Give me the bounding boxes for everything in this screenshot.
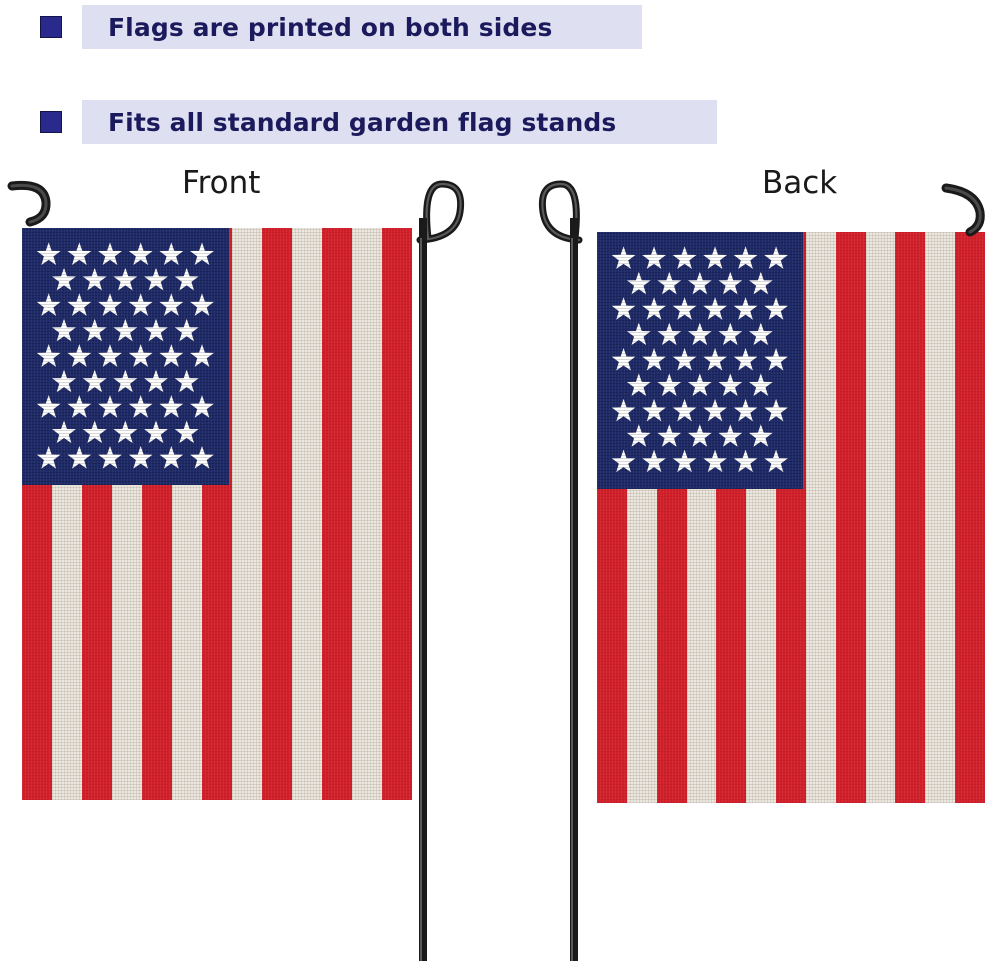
flag-star (642, 450, 666, 473)
flag-star (749, 272, 773, 295)
flag-star (159, 242, 183, 265)
flag-star (175, 370, 199, 393)
flag-star (612, 450, 636, 473)
flag-star (718, 424, 742, 447)
flag-star (718, 323, 742, 346)
flag-star (612, 348, 636, 371)
feature-label: Flags are printed on both sides (108, 15, 552, 40)
flag-side-label-front: Front (182, 168, 260, 199)
flag-stripe (806, 232, 836, 803)
feature-band: Fits all standard garden flag stands (82, 100, 717, 144)
flag-star (190, 293, 214, 316)
flag-star (612, 246, 636, 269)
flag-canton-stars (22, 228, 229, 485)
flag-star (67, 242, 91, 265)
flag-stripe (322, 228, 353, 800)
flag-star (612, 297, 636, 320)
flag-star (144, 319, 168, 342)
flag-star (673, 399, 697, 422)
flag-pole-hook-right (930, 178, 1000, 248)
flag-star (764, 297, 788, 320)
flag-star (52, 268, 76, 291)
flag-star (83, 421, 107, 444)
flag-star (67, 293, 91, 316)
flag-stripe (232, 228, 263, 800)
flag-star (98, 446, 122, 469)
flag-star (627, 323, 651, 346)
flag-star (113, 370, 137, 393)
flag-star (52, 319, 76, 342)
flag-star (83, 319, 107, 342)
garden-flag-front (22, 228, 412, 800)
flag-star (190, 395, 214, 418)
feature-callout-printed-both-sides: Flags are printed on both sides (40, 5, 642, 49)
flag-star (98, 293, 122, 316)
flag-star (129, 446, 153, 469)
flag-star (98, 395, 122, 418)
flag-star (175, 319, 199, 342)
flag-star (67, 446, 91, 469)
flag-star (190, 446, 214, 469)
flag-star (703, 399, 727, 422)
flag-stripe (836, 232, 866, 803)
flag-star (749, 373, 773, 396)
flag-star (734, 348, 758, 371)
flag-star (642, 348, 666, 371)
flag-star (749, 424, 773, 447)
flag-star (673, 450, 697, 473)
flag-star (144, 370, 168, 393)
feature-label: Fits all standard garden flag stands (108, 110, 616, 135)
flag-star (642, 399, 666, 422)
flag-star (52, 370, 76, 393)
flag-stripe (895, 232, 925, 803)
flag-star (37, 395, 61, 418)
flag-star (673, 297, 697, 320)
flag-star (703, 348, 727, 371)
flag-stripe (262, 228, 293, 800)
flag-star (37, 446, 61, 469)
flag-star (688, 373, 712, 396)
flag-star (657, 373, 681, 396)
flag-star (144, 268, 168, 291)
flag-star (703, 297, 727, 320)
garden-flag-back (597, 232, 985, 803)
flag-stripe (925, 232, 955, 803)
feature-callout-fits-standard-stands: Fits all standard garden flag stands (40, 100, 717, 144)
flag-star (144, 421, 168, 444)
flag-star (113, 319, 137, 342)
flag-star (734, 399, 758, 422)
flag-star (113, 421, 137, 444)
flag-star (129, 293, 153, 316)
flag-star (734, 246, 758, 269)
flag-star (657, 424, 681, 447)
flag-star (159, 395, 183, 418)
flag-side-label-back: Back (762, 168, 837, 199)
flag-stripe (352, 228, 383, 800)
flag-star (718, 272, 742, 295)
flag-star (159, 344, 183, 367)
flag-star (688, 424, 712, 447)
flag-star (673, 246, 697, 269)
flag-star (734, 297, 758, 320)
flag-star (627, 272, 651, 295)
flag-star (129, 242, 153, 265)
flag-star (642, 246, 666, 269)
flag-star (67, 395, 91, 418)
flag-star (764, 450, 788, 473)
flag-star (764, 348, 788, 371)
flag-star (612, 399, 636, 422)
flag-star (175, 421, 199, 444)
flag-star (98, 242, 122, 265)
flag-star (83, 268, 107, 291)
flag-star (688, 323, 712, 346)
flag-star (67, 344, 91, 367)
flag-star (159, 446, 183, 469)
flag-star (703, 246, 727, 269)
flag-star (688, 272, 712, 295)
feature-band: Flags are printed on both sides (82, 5, 642, 49)
flag-star (98, 344, 122, 367)
flag-canton-stars (597, 232, 803, 489)
flag-star (764, 246, 788, 269)
flag-star (52, 421, 76, 444)
flag-star (83, 370, 107, 393)
flag-star (657, 272, 681, 295)
flag-star (37, 344, 61, 367)
flag-star (703, 450, 727, 473)
flag-star (673, 348, 697, 371)
flag-stripe (292, 228, 323, 800)
flag-star (175, 268, 199, 291)
flag-star (190, 344, 214, 367)
flag-star (159, 293, 183, 316)
flag-star (37, 293, 61, 316)
flag-stripe (866, 232, 896, 803)
flag-star (627, 373, 651, 396)
flag-star (129, 344, 153, 367)
flag-star (642, 297, 666, 320)
flag-pole-center-left (398, 178, 468, 965)
flag-star (749, 323, 773, 346)
bullet-square-icon (40, 111, 62, 133)
bullet-square-icon (40, 16, 62, 38)
flag-star (129, 395, 153, 418)
flag-star (627, 424, 651, 447)
flag-star (734, 450, 758, 473)
flag-pole-center-right (515, 178, 585, 965)
flag-star (657, 323, 681, 346)
flag-star (764, 399, 788, 422)
flag-star (718, 373, 742, 396)
flag-star (113, 268, 137, 291)
flag-star (190, 242, 214, 265)
flag-stripe (955, 232, 985, 803)
flag-pole-hook-left (0, 178, 70, 248)
